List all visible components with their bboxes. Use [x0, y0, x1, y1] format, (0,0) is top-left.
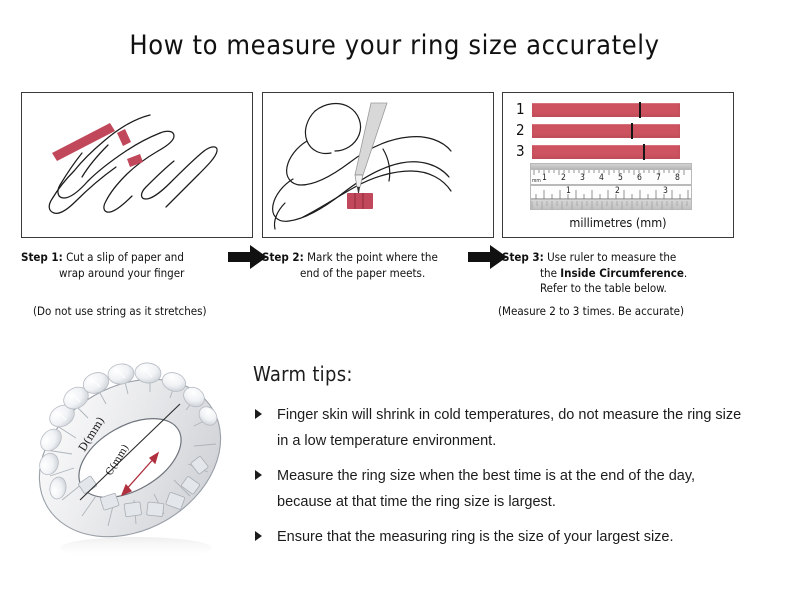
ruler-inch-3: 3 — [663, 187, 668, 195]
warm-tips-section: Warm tips: Finger skin will shrink in co… — [253, 362, 773, 559]
measured-strip-row-3: 3 — [516, 144, 680, 159]
strip-number-2: 2 — [516, 123, 532, 138]
step-2-panel — [262, 92, 494, 238]
strip-tick-mark-1 — [639, 102, 641, 118]
ruler-cm-3: 3 — [580, 174, 585, 182]
triangle-bullet-icon — [255, 409, 262, 419]
step-3-note: (Measure 2 to 3 times. Be accurate) — [498, 304, 748, 318]
step-1-column: Step 1: Cut a slip of paper and wrap aro… — [21, 92, 253, 281]
ruler-mm-unit: mm — [532, 177, 541, 185]
paper-strip-3 — [532, 145, 680, 159]
step-1-line1: Cut a slip of paper and — [66, 250, 184, 264]
strip-tick-mark-2 — [631, 123, 633, 139]
step-3-panel: 1 2 3 — [502, 92, 734, 238]
warm-tip-text-1: Finger skin will shrink in cold temperat… — [277, 407, 741, 449]
step-1-caption: Step 1: Cut a slip of paper and wrap aro… — [21, 250, 253, 281]
ruler-cm-6: 6 — [637, 174, 642, 182]
step-3-label: Step 3: — [502, 250, 544, 264]
triangle-bullet-icon — [255, 470, 262, 480]
ruler-cm-8: 8 — [675, 174, 680, 182]
step-3-line2-suffix: . — [684, 266, 687, 280]
ruler-unit-label: millimetres (mm) — [543, 215, 693, 230]
steps-row: Step 1: Cut a slip of paper and wrap aro… — [0, 92, 789, 337]
page-title: How to measure your ring size accurately — [0, 30, 789, 61]
hand-marking-with-pen-illustration — [263, 93, 493, 237]
ruler-cm-7: 7 — [656, 174, 661, 182]
step-2-line1: Mark the point where the — [307, 250, 438, 264]
warm-tip-text-2: Measure the ring size when the best time… — [277, 468, 695, 510]
ruler-inch-2: 2 — [615, 187, 620, 195]
ring-diagram — [18, 352, 250, 576]
ruler-cm-1: 1 — [542, 174, 547, 182]
step-1-line2: wrap around your finger — [21, 266, 253, 282]
step-1-panel — [21, 92, 253, 238]
measured-strip-row-1: 1 — [516, 102, 680, 117]
step-2-line2: end of the paper meets. — [262, 266, 494, 282]
step-3-line2-prefix: the — [540, 266, 560, 280]
warm-tip-text-3: Ensure that the measuring ring is the si… — [277, 529, 674, 545]
step-3-line2-bold: Inside Circumference — [560, 266, 684, 280]
step-3-line1: Use ruler to measure the — [547, 250, 676, 264]
warm-tip-item-1: Finger skin will shrink in cold temperat… — [253, 402, 747, 454]
ruler-cm-4: 4 — [599, 174, 604, 182]
strip-number-1: 1 — [516, 102, 532, 117]
paper-strip-2 — [532, 124, 680, 138]
paper-strip-1 — [532, 103, 680, 117]
strip-number-3: 3 — [516, 144, 532, 159]
strip-tick-mark-3 — [643, 144, 645, 160]
step-2-caption: Step 2: Mark the point where the end of … — [262, 250, 494, 281]
step-3-column: 1 2 3 — [502, 92, 734, 297]
ruler-inch-1: 1 — [566, 187, 571, 195]
ruler-graphic: mm 1 2 3 4 5 6 7 8 1 2 3 — [530, 163, 692, 211]
diamond-eternity-ring-photo — [18, 352, 250, 576]
step-3-caption: Step 3: Use ruler to measure the the Ins… — [502, 250, 734, 297]
warm-tip-item-2: Measure the ring size when the best time… — [253, 463, 747, 515]
triangle-bullet-icon — [255, 531, 262, 541]
measured-strip-row-2: 2 — [516, 123, 680, 138]
ring-size-guide-page: How to measure your ring size accurately — [0, 0, 789, 606]
step-1-note: (Do not use string as it stretches) — [33, 304, 283, 318]
warm-tips-heading: Warm tips: — [253, 362, 773, 386]
step-1-label: Step 1: — [21, 250, 63, 264]
ruler-cm-2: 2 — [561, 174, 566, 182]
step-3-line3: Refer to the table below. — [502, 281, 734, 297]
step-2-label: Step 2: — [262, 250, 304, 264]
ruler-cm-5: 5 — [618, 174, 623, 182]
step-2-column: Step 2: Mark the point where the end of … — [262, 92, 494, 281]
warm-tip-item-3: Ensure that the measuring ring is the si… — [253, 524, 747, 550]
hand-with-paper-strip-illustration — [22, 93, 252, 237]
